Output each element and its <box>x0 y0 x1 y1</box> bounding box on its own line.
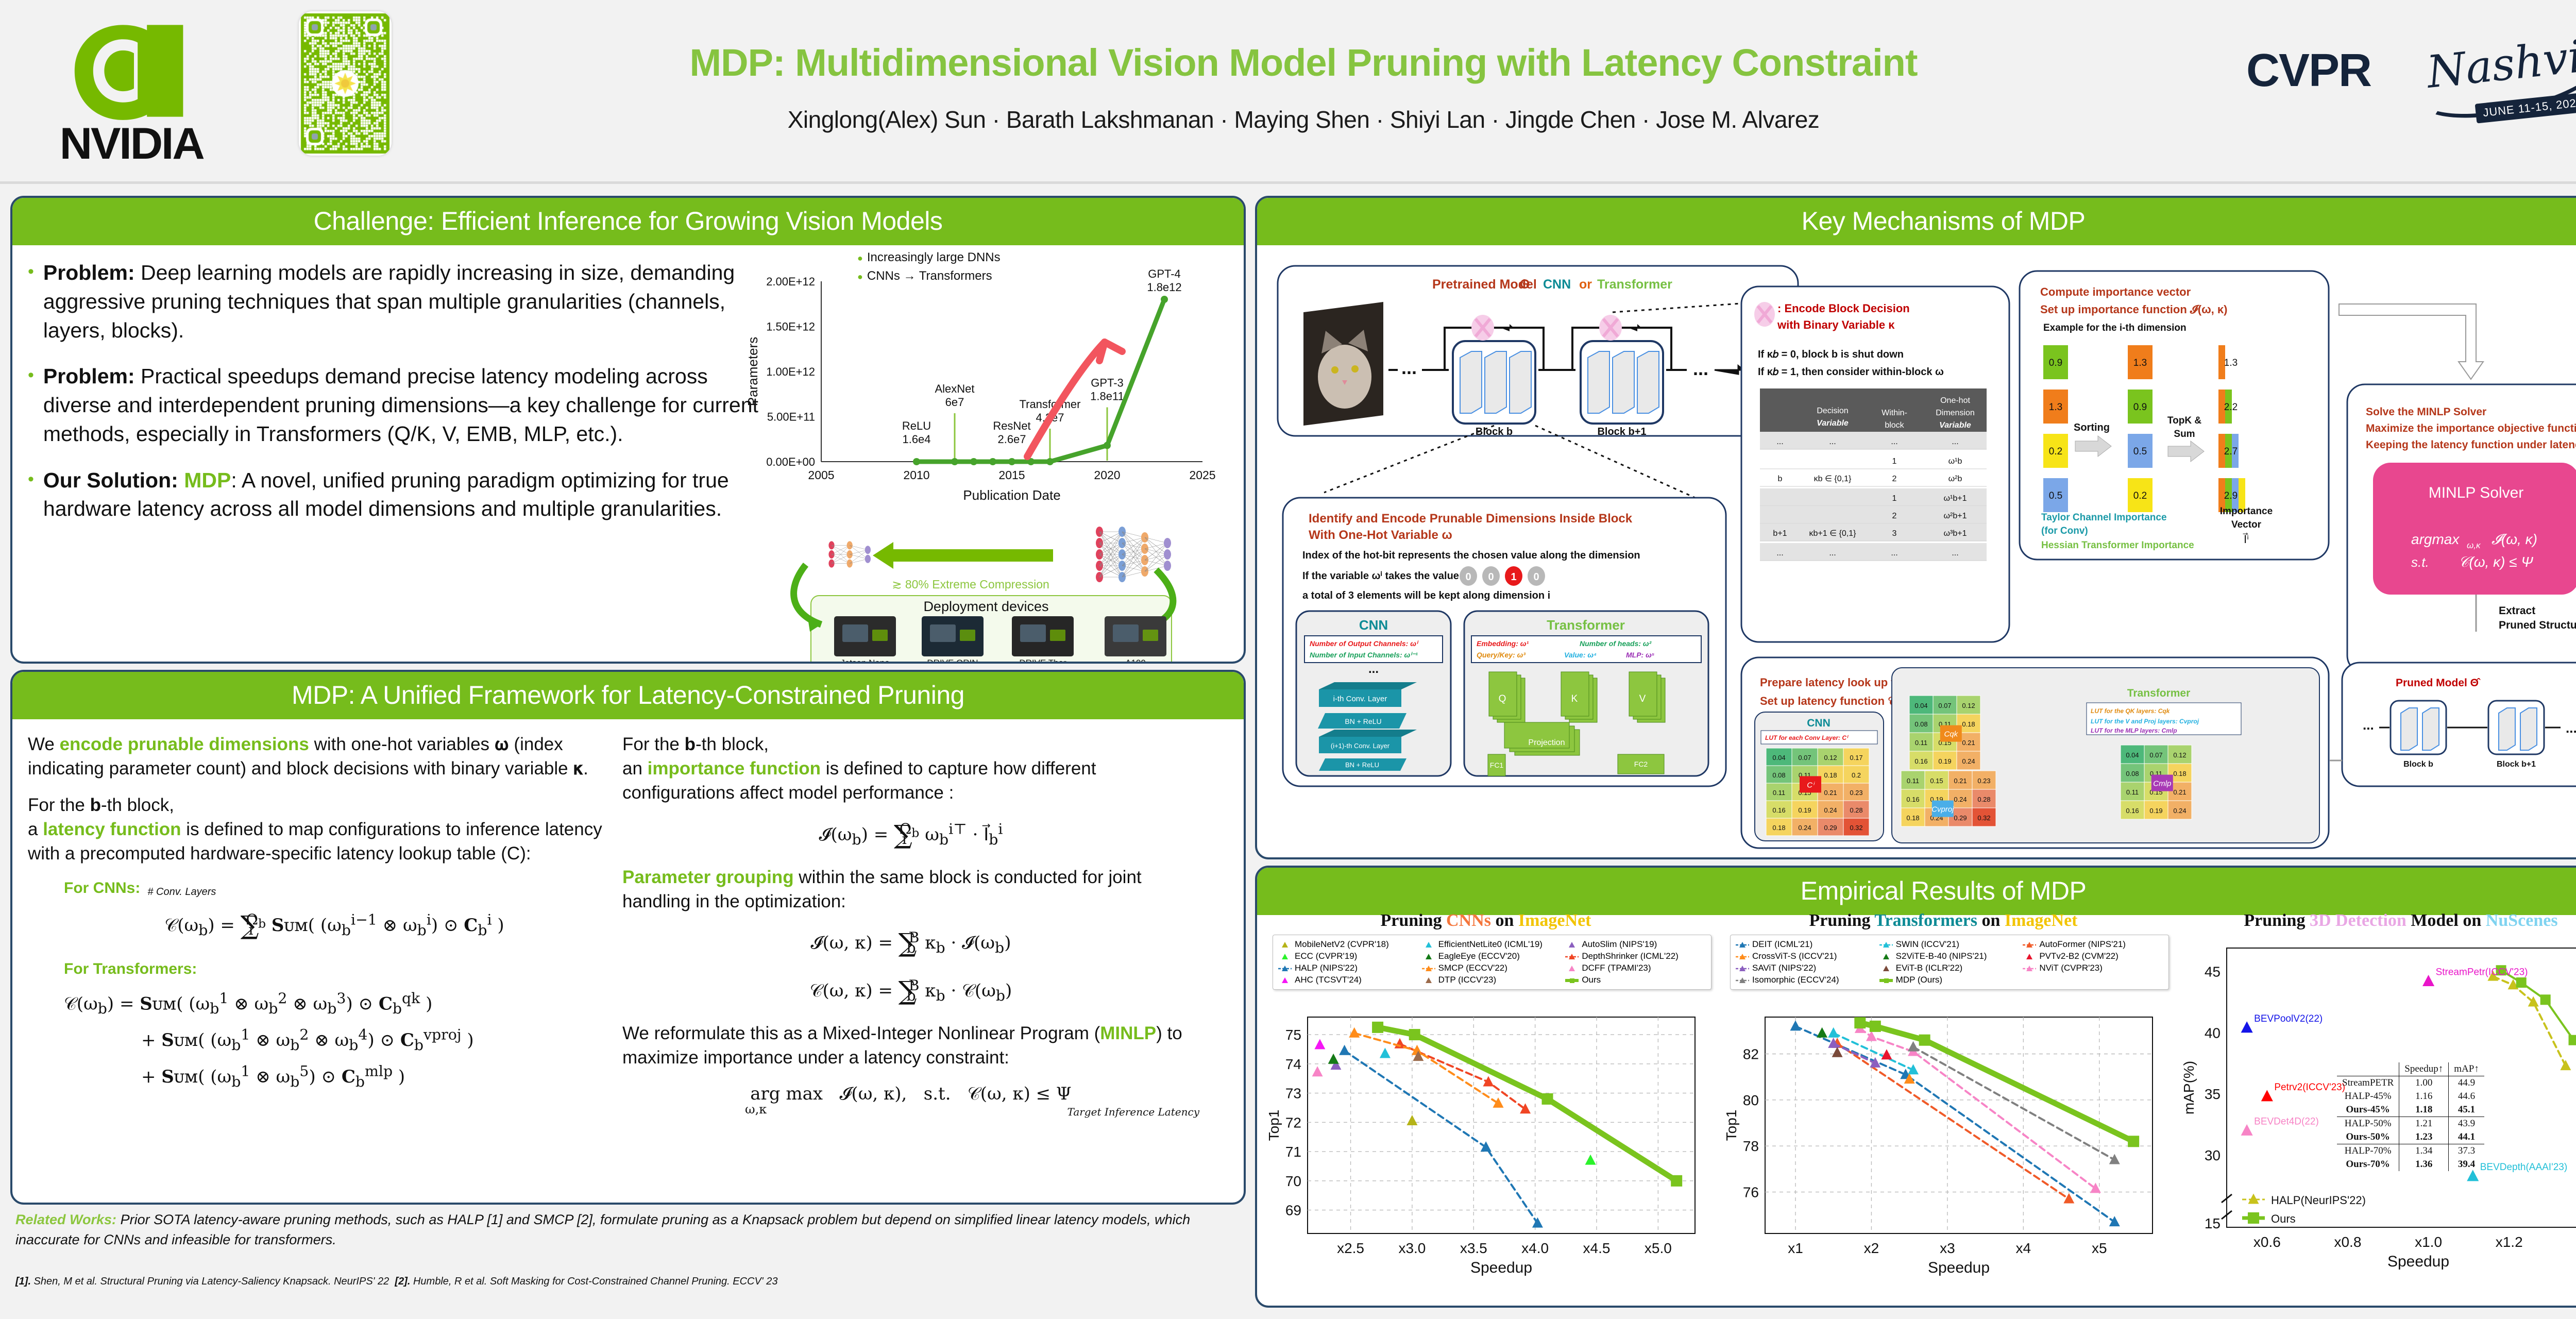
svg-text:x5.0: x5.0 <box>1645 1240 1672 1256</box>
svg-text:Publication Date: Publication Date <box>963 487 1060 503</box>
svg-text:45: 45 <box>2205 964 2221 980</box>
svg-text:0.21: 0.21 <box>1962 739 1975 747</box>
svg-text:0.17: 0.17 <box>1850 754 1862 762</box>
table-cell: StreamPETR <box>2337 1076 2399 1090</box>
svg-text:mAP(%): mAP(%) <box>2182 1061 2197 1114</box>
chart-3ddet-title: Pruning 3D Detection Model on NuScenes <box>2172 911 2576 931</box>
svg-text:CNN: CNN <box>1543 277 1571 292</box>
svg-text:0.11: 0.11 <box>1773 789 1785 797</box>
svg-text:...: ... <box>1693 358 1708 379</box>
svg-text:...: ... <box>1952 437 1958 446</box>
svg-text:2.00E+12: 2.00E+12 <box>766 275 815 288</box>
table-row: StreamPETR1.0044.9 <box>2337 1076 2484 1090</box>
table-header: Speedup↑ <box>2399 1062 2449 1076</box>
svg-text:BEVPoolV2(22): BEVPoolV2(22) <box>2254 1013 2323 1024</box>
table-cell: HALP-45% <box>2337 1090 2399 1103</box>
svg-text:ω¹b: ω¹b <box>1948 457 1962 466</box>
svg-text:x3: x3 <box>1940 1240 1955 1256</box>
importance-group-equation: 𝓘(ω, κ) = ∑bB κb · 𝓘(ωb) <box>622 926 1199 960</box>
svg-text:Importance: Importance <box>2220 506 2273 517</box>
svg-text:DRIVE Thor: DRIVE Thor <box>1019 658 1066 664</box>
panel-framework-body: We encode prunable dimensions with one-h… <box>12 719 1244 1133</box>
svg-text:BN + ReLU: BN + ReLU <box>1345 717 1381 725</box>
svg-text:Query/Key: ω³: Query/Key: ω³ <box>1477 651 1526 659</box>
cvpr-logo: CVPR Nashville JUNE 11-15, 2025 <box>2246 21 2576 149</box>
svg-text:...: ... <box>1891 549 1897 557</box>
table-cell: Ours-45% <box>2337 1103 2399 1117</box>
qr-code[interactable] <box>299 11 392 156</box>
table-cell: 1.36 <box>2399 1158 2449 1171</box>
svg-text:0.19: 0.19 <box>1938 757 1951 765</box>
framework-left-column: We encode prunable dimensions with one-h… <box>28 733 605 1120</box>
svg-text:GPT-3: GPT-3 <box>1091 377 1124 390</box>
title-segment: NuScenes <box>2486 911 2558 930</box>
nvidia-logo: NVIDIA <box>54 15 255 160</box>
svg-text:0.07: 0.07 <box>1938 702 1951 709</box>
svg-text:0.5: 0.5 <box>2133 446 2147 457</box>
svg-text:0.18: 0.18 <box>1962 720 1975 728</box>
panel-framework: MDP: A Unified Framework for Latency-Con… <box>10 670 1246 1205</box>
svg-text:Value: ω⁴: Value: ω⁴ <box>1564 651 1597 659</box>
svg-text:0.12: 0.12 <box>1824 754 1837 762</box>
legend-item: EViT-B (ICLR'22) <box>1879 963 2020 973</box>
svg-text:0.04: 0.04 <box>2126 751 2139 759</box>
svg-text:Deployment devices: Deployment devices <box>923 599 1048 614</box>
svg-text:BN + ReLU: BN + ReLU <box>1345 761 1379 769</box>
legend-item: DepthShrinker (ICML'22) <box>1565 951 1706 961</box>
svg-text:Number of Input Channels: ωⁱ⁻¹: Number of Input Channels: ωⁱ⁻¹ <box>1310 651 1418 659</box>
svg-text:0.18: 0.18 <box>1906 814 1919 822</box>
legend-item: AutoSlim (NIPS'19) <box>1565 939 1706 950</box>
svg-text:Ours: Ours <box>2271 1212 2296 1225</box>
panel-challenge: Challenge: Efficient Inference for Growi… <box>10 196 1246 664</box>
table-row: HALP-70%1.3437.3 <box>2337 1144 2484 1158</box>
parameters-growth-chart: 0.00E+005.00E+111.00E+121.50E+122.00E+12… <box>739 250 1218 513</box>
legend-label: MobileNetV2 (CVPR'18) <box>1295 939 1389 950</box>
svg-text:35: 35 <box>2205 1086 2221 1102</box>
title-segment: 3D Detection <box>2310 911 2406 930</box>
table-cell: 44.9 <box>2449 1076 2484 1090</box>
svg-text:LUT for the QK layers: Cqk: LUT for the QK layers: Cqk <box>2091 707 2171 715</box>
table-cell: 37.3 <box>2449 1144 2484 1158</box>
legend-item: CrossViT-S (ICCV'21) <box>1736 951 1876 961</box>
legend-marker-icon <box>1736 976 1749 984</box>
svg-text:0.29: 0.29 <box>1954 814 1967 822</box>
svg-text:Speedup: Speedup <box>2387 1253 2449 1270</box>
svg-text:BEVDepth(AAAI'23): BEVDepth(AAAI'23) <box>2480 1162 2567 1173</box>
results-charts: Pruning CNNs on ImageNet MobileNetV2 (CV… <box>1257 908 2576 1305</box>
svg-text:Cⁱ: Cⁱ <box>1807 781 1815 789</box>
svg-text:Number of heads: ω²: Number of heads: ω² <box>1580 639 1652 648</box>
legend-marker-icon <box>1736 965 1749 972</box>
svg-text:i-th Conv. Layer: i-th Conv. Layer <box>1333 695 1387 703</box>
svg-text:Variable: Variable <box>1817 419 1849 428</box>
svg-text:Pruned Structure: Pruned Structure <box>2499 619 2576 631</box>
legend-marker-icon <box>1422 953 1435 960</box>
legend-marker-icon <box>1565 941 1579 948</box>
svg-text:0.04: 0.04 <box>1772 754 1785 762</box>
legend-item: SAViT (NIPS'22) <box>1736 963 1876 973</box>
svg-text:0.16: 0.16 <box>1772 806 1785 814</box>
svg-text:0.24: 0.24 <box>1954 796 1967 803</box>
legend-label: SAViT (NIPS'22) <box>1752 963 1816 973</box>
transformer-eq-label: For Transformers: <box>64 960 197 977</box>
legend-marker-icon <box>1565 965 1579 972</box>
list-item: • Problem: Deep learning models are rapi… <box>28 259 759 345</box>
svg-text:Cqk: Cqk <box>1944 730 1958 739</box>
svg-text:Maximize the importance object: Maximize the importance objective functi… <box>2366 422 2576 434</box>
table-cell: Ours-50% <box>2337 1130 2399 1144</box>
svg-text:0.24: 0.24 <box>1798 824 1811 832</box>
svg-text:(for Conv): (for Conv) <box>2041 526 2088 536</box>
svg-text:72: 72 <box>1285 1114 1301 1130</box>
legend-item: MDP (Ours) <box>1879 975 2020 985</box>
svg-text:ω²b+1: ω²b+1 <box>1944 512 1967 520</box>
svg-text:2.9: 2.9 <box>2224 491 2238 501</box>
svg-text:StreamPetr(ICCV'23): StreamPetr(ICCV'23) <box>2436 967 2528 978</box>
svg-text:...: ... <box>1776 549 1783 557</box>
svg-text:CNN: CNN <box>1359 617 1388 633</box>
svg-text:GPT-4: GPT-4 <box>1148 267 1181 280</box>
chart-cnn-plot: 69707172737475x2.5x3.0x3.5x4.0x4.5x5.0Sp… <box>1267 1011 1705 1279</box>
svg-text:6e7: 6e7 <box>945 396 964 409</box>
target-latency-note: Target Inference Latency <box>1067 1105 1199 1119</box>
legend-item: EagleEye (ECCV'20) <box>1422 951 1563 961</box>
framework-p2: For the b-th block, a latency function i… <box>28 793 605 866</box>
poster-root: NVIDIA MDP: Multidimensional Vision Mode… <box>0 0 2576 1319</box>
svg-text:0.08: 0.08 <box>1914 720 1927 728</box>
bullet-dot-icon: • <box>28 362 34 448</box>
svg-text:0.32: 0.32 <box>1977 814 1990 822</box>
legend-label: EfficientNetLite0 (ICML'19) <box>1438 939 1543 950</box>
svg-text:Block b: Block b <box>2403 760 2433 769</box>
svg-text:1.50E+12: 1.50E+12 <box>766 320 815 333</box>
svg-text:Transformer: Transformer <box>1020 398 1081 411</box>
svg-text:Sum: Sum <box>2174 429 2195 439</box>
legend-label: Isomorphic (ECCV'24) <box>1752 975 1839 985</box>
cvpr-text: CVPR <box>2246 44 2371 97</box>
svg-text:0.24: 0.24 <box>2173 807 2186 815</box>
svg-text:2015: 2015 <box>998 468 1025 482</box>
legend-marker-icon <box>1422 965 1435 972</box>
framework-r3: We reformulate this as a Mixed-Integer N… <box>622 1022 1199 1070</box>
svg-text:Hessian Transformer Importance: Hessian Transformer Importance <box>2041 540 2194 551</box>
svg-text:argmax: argmax <box>2411 531 2460 547</box>
svg-text:2025: 2025 <box>1189 468 1215 482</box>
bullet-text: Problem: Practical speedups demand preci… <box>43 362 759 448</box>
legend-label: S2ViTE-B-40 (NIPS'21) <box>1896 951 1987 961</box>
svg-text:block: block <box>1885 421 1904 430</box>
svg-text:ReLU: ReLU <box>902 419 931 432</box>
legend-label: SWIN (ICCV'21) <box>1896 939 1959 950</box>
svg-text:1.3: 1.3 <box>2049 402 2062 413</box>
svg-text:82: 82 <box>1743 1046 1759 1062</box>
svg-text:80: 80 <box>1743 1092 1759 1108</box>
svg-text:0.07: 0.07 <box>2149 751 2162 759</box>
svg-text:x4.0: x4.0 <box>1521 1240 1549 1256</box>
svg-text:x3.0: x3.0 <box>1398 1240 1426 1256</box>
svg-text:K: K <box>1571 694 1578 704</box>
svg-text:0.00E+00: 0.00E+00 <box>766 455 815 468</box>
svg-text:If the variable ωⁱ takes the v: If the variable ωⁱ takes the value: <box>1302 570 1463 582</box>
title-segment: ImageNet <box>2005 911 2078 930</box>
svg-text:0.24: 0.24 <box>1824 806 1837 814</box>
svg-text:0.21: 0.21 <box>2173 788 2186 796</box>
svg-text:x0.8: x0.8 <box>2334 1234 2361 1250</box>
legend-marker-icon <box>1879 965 1893 972</box>
svg-text:Speedup: Speedup <box>1470 1259 1532 1276</box>
svg-text:0.24: 0.24 <box>1962 757 1975 765</box>
title-segment: Pruning <box>2244 911 2310 930</box>
bullet-text: Our Solution: MDP: A novel, unified prun… <box>43 466 759 524</box>
table-cell: 44.6 <box>2449 1090 2484 1103</box>
svg-text:Transformer: Transformer <box>1597 277 1672 292</box>
chart-cnn-legend: MobileNetV2 (CVPR'18)EfficientNetLite0 (… <box>1273 935 1711 990</box>
svg-text:1.3: 1.3 <box>2133 358 2147 368</box>
legend-item: SMCP (ECCV'22) <box>1422 963 1563 973</box>
svg-text:Block b+1: Block b+1 <box>1597 426 1646 437</box>
legend-label: DCFF (TPAMI'23) <box>1582 963 1651 973</box>
svg-text:2: 2 <box>1892 512 1897 520</box>
svg-text:1.8e12: 1.8e12 <box>1147 281 1181 294</box>
legend-marker-icon <box>1422 976 1435 984</box>
svg-text:I⃗ⁱ: I⃗ⁱ <box>2243 533 2249 546</box>
svg-text:...: ... <box>1829 437 1836 446</box>
svg-text:0: 0 <box>1465 571 1471 583</box>
svg-text:...: ... <box>1776 437 1783 446</box>
svg-text:73: 73 <box>1285 1086 1301 1102</box>
panel-challenge-body: • Problem: Deep learning models are rapi… <box>12 245 1244 554</box>
svg-text:5.00E+11: 5.00E+11 <box>767 411 815 424</box>
chart-transformer-title: Pruning Transformers on ImageNet <box>1715 911 2172 931</box>
legend-item: AutoFormer (NIPS'21) <box>2023 939 2163 950</box>
legend-label: ECC (CVPR'19) <box>1295 951 1357 961</box>
svg-text:75: 75 <box>1285 1027 1301 1043</box>
deployment-diagram: ≳ 80% Extreme CompressionDeployment devi… <box>744 513 1223 664</box>
svg-text:𝒞(ω, κ) ≤ Ψ: 𝒞(ω, κ) ≤ Ψ <box>2459 554 2533 570</box>
svg-text:Vector: Vector <box>2231 519 2262 530</box>
title-segment: on <box>1977 911 2005 930</box>
svg-text:CNN: CNN <box>1807 717 1831 729</box>
svg-text:Decision: Decision <box>1817 407 1848 415</box>
svg-text:0.16: 0.16 <box>1914 757 1927 765</box>
svg-text:ω,κ: ω,κ <box>2467 540 2481 550</box>
svg-text:0.23: 0.23 <box>1850 789 1862 797</box>
panel-results: Empirical Results of MDP Pruning CNNs on… <box>1255 866 2576 1308</box>
svg-text:ResNet: ResNet <box>993 419 1030 432</box>
legend-marker-icon <box>2023 953 2036 960</box>
svg-text:b+1: b+1 <box>1773 529 1787 538</box>
svg-text:2.7: 2.7 <box>2224 446 2238 457</box>
svg-text:Dimension: Dimension <box>1936 409 1975 417</box>
svg-text:3: 3 <box>1892 529 1897 538</box>
svg-text:30: 30 <box>2205 1147 2221 1163</box>
legend-label: DEIT (ICML'21) <box>1752 939 1812 950</box>
svg-text:x1.0: x1.0 <box>2415 1234 2442 1250</box>
legend-item: NViT (CVPR'23) <box>2023 963 2163 973</box>
table-cell: 45.1 <box>2449 1103 2484 1117</box>
legend-marker-icon <box>1278 941 1292 948</box>
svg-text:One-hot: One-hot <box>1940 396 1970 405</box>
legend-item: AHC (TCSVT'24) <box>1278 975 1419 985</box>
chart-transformer-plot: 76788082x1x2x3x4x5SpeedupTop1 <box>1725 1011 2163 1279</box>
panel-challenge-title: Challenge: Efficient Inference for Growi… <box>12 198 1244 245</box>
legend-marker-icon <box>1879 941 1893 948</box>
svg-text:If κ𝑏 = 1, then consider with: If κ𝑏 = 1, then consider within-block ω <box>1758 366 1944 378</box>
bullet-text: Problem: Deep learning models are rapidl… <box>43 259 759 345</box>
svg-text:Variable: Variable <box>1939 421 1971 430</box>
svg-text:DRIVE ORIN: DRIVE ORIN <box>927 658 978 664</box>
svg-text:κb+1 ∈ {0,1}: κb+1 ∈ {0,1} <box>1809 529 1857 538</box>
svg-text:0.07: 0.07 <box>1798 754 1811 762</box>
latency-group-equation: 𝒞(ω, κ) = ∑bB κb · 𝒞(ωb) <box>622 974 1199 1008</box>
legend-label: DTP (ICCV'23) <box>1438 975 1497 985</box>
svg-text:0.23: 0.23 <box>1977 777 1990 785</box>
svg-text:κb ∈ {0,1}: κb ∈ {0,1} <box>1814 475 1852 483</box>
svg-text:Projection: Projection <box>1528 738 1565 747</box>
page-title: MDP: Multidimensional Vision Model Pruni… <box>505 44 2102 82</box>
title-segment: Pruning <box>1381 911 1447 930</box>
svg-text:0.29: 0.29 <box>1824 824 1837 832</box>
legend-label: EViT-B (ICLR'22) <box>1896 963 1963 973</box>
table-cell: 1.16 <box>2399 1090 2449 1103</box>
svg-text:x2.5: x2.5 <box>1337 1240 1364 1256</box>
svg-text:BEVDet4D(22): BEVDet4D(22) <box>2254 1116 2319 1127</box>
svg-text:Transformer: Transformer <box>2127 687 2191 699</box>
svg-text:Sorting: Sorting <box>2074 422 2110 433</box>
table-row: HALP-50%1.2143.9 <box>2337 1117 2484 1131</box>
table-cell: 39.4 <box>2449 1158 2484 1171</box>
legend-item: DCFF (TPAMI'23) <box>1565 963 1706 973</box>
bullet-dot-icon: • <box>28 466 34 524</box>
legend-label: CrossViT-S (ICCV'21) <box>1752 951 1837 961</box>
svg-text:0.28: 0.28 <box>1850 806 1862 814</box>
svg-text:x5: x5 <box>2092 1240 2107 1256</box>
svg-text:2005: 2005 <box>808 468 834 482</box>
panel-mechanisms-body: Pretrained ModelΘCNNorTransformer...Bloc… <box>1257 245 2576 859</box>
legend-item: PVTv2-B2 (CVM'22) <box>2023 951 2163 961</box>
legend-marker-icon <box>1565 976 1579 984</box>
minlp-equation: arg max ω,κ 𝓘(ω, κ), s.t. 𝒞(ω, κ) ≤ Ψ Ta… <box>622 1083 1199 1106</box>
legend-item: DTP (ICCV'23) <box>1422 975 1563 985</box>
svg-text:...: ... <box>1891 437 1897 446</box>
svg-text:x2: x2 <box>1864 1240 1879 1256</box>
svg-text:0.08: 0.08 <box>2126 770 2139 777</box>
svg-text:≳ 80% Extreme Compression: ≳ 80% Extreme Compression <box>892 578 1049 591</box>
svg-text:Block b: Block b <box>1476 426 1513 437</box>
legend-label: SMCP (ECCV'22) <box>1438 963 1507 973</box>
svg-text:V: V <box>1639 694 1646 704</box>
svg-text:Compute importance vector: Compute importance vector <box>2040 285 2191 298</box>
panel-mechanisms: Key Mechanisms of MDP Pretrained ModelΘC… <box>1255 196 2576 859</box>
legend-label: HALP (NIPS'22) <box>1295 963 1358 973</box>
legend-marker-icon <box>1278 965 1292 972</box>
svg-text:0.11: 0.11 <box>2126 788 2139 796</box>
mechanisms-diagram: Pretrained ModelΘCNNorTransformer...Bloc… <box>1262 250 2576 858</box>
title-segment: Transformers <box>1874 911 1977 930</box>
svg-text:Set up importance function 𝓘(: Set up importance function 𝓘(ω, κ) <box>2040 303 2228 316</box>
svg-text:...: ... <box>1401 357 1417 378</box>
svg-text:ω¹b+1: ω¹b+1 <box>1944 494 1967 503</box>
legend-marker-icon <box>1278 953 1292 960</box>
svg-text:Cvproj: Cvproj <box>1931 805 1954 814</box>
svg-text:0.11: 0.11 <box>1915 739 1927 747</box>
svg-text:0.21: 0.21 <box>1824 789 1837 797</box>
table-cell: 1.23 <box>2399 1130 2449 1144</box>
transformer-latency-equation: 𝒞(ωb) = Sᴜᴍ( (ωb1 ⊗ ωb2 ⊗ ωb3) ⊙ Cbqk ) … <box>64 986 605 1095</box>
table-cell: 1.00 <box>2399 1076 2449 1090</box>
svg-text:MINLP Solver: MINLP Solver <box>2429 484 2524 501</box>
svg-text:0.12: 0.12 <box>2173 751 2186 759</box>
table-cell: HALP-70% <box>2337 1144 2399 1158</box>
svg-text:LUT for the MLP layers: Cmlp: LUT for the MLP layers: Cmlp <box>2091 727 2177 734</box>
svg-text:1: 1 <box>1892 494 1897 503</box>
legend-marker-icon <box>2023 965 2036 972</box>
svg-text:Top1: Top1 <box>1725 1110 1739 1141</box>
legend-marker-icon <box>1422 941 1435 948</box>
svg-text:Identify and Encode Prunable D: Identify and Encode Prunable Dimensions … <box>1309 512 1633 526</box>
svg-text:LUT for the V and Proj layers:: LUT for the V and Proj layers: Cvproj <box>2091 718 2199 725</box>
svg-text:2.2: 2.2 <box>2224 402 2238 413</box>
bullet-dot-icon: • <box>28 259 34 345</box>
chart-3ddet: Pruning 3D Detection Model on NuScenes 1… <box>2172 908 2576 1305</box>
importance-equation: 𝓘(ωb) = ∑iΩb ωbi⊤ · I⃗bi <box>622 818 1199 852</box>
panel-mechanisms-title: Key Mechanisms of MDP <box>1257 198 2576 245</box>
header-divider <box>0 181 2576 184</box>
list-item: • Our Solution: MDP: A novel, unified pr… <box>28 466 759 524</box>
title-segment: on <box>1491 911 1518 930</box>
legend-item: EfficientNetLite0 (ICML'19) <box>1422 939 1563 950</box>
legend-label: EagleEye (ECCV'20) <box>1438 951 1520 961</box>
title-segment: ImageNet <box>1518 911 1591 930</box>
svg-text:FC2: FC2 <box>1634 760 1648 768</box>
svg-text:0.04: 0.04 <box>1914 702 1927 709</box>
svg-text:0.5: 0.5 <box>2049 491 2062 501</box>
legend-item: SWIN (ICCV'21) <box>1879 939 2020 950</box>
svg-text:0.19: 0.19 <box>1798 806 1811 814</box>
svg-text:a total of 3 elements will be: a total of 3 elements will be kept along… <box>1302 590 1550 601</box>
svg-text:x1.2: x1.2 <box>2496 1234 2523 1250</box>
conv-layers-note: # Conv. Layers <box>147 885 216 899</box>
svg-text:71: 71 <box>1285 1144 1301 1160</box>
title-segment: Pruning <box>1809 911 1874 930</box>
svg-text:Pruned Model Θ̂: Pruned Model Θ̂ <box>2396 677 2481 689</box>
chart-transformer-legend: DEIT (ICML'21)SWIN (ICCV'21)AutoFormer (… <box>1730 935 2169 990</box>
svg-text:Q: Q <box>1499 694 1506 704</box>
svg-text:78: 78 <box>1743 1138 1759 1154</box>
title-segment: CNNs <box>1446 911 1491 930</box>
svg-text:2.6e7: 2.6e7 <box>997 433 1026 446</box>
legend-marker-icon <box>2023 941 2036 948</box>
nvidia-eye-icon <box>64 21 204 121</box>
svg-text:0.15: 0.15 <box>1930 777 1943 785</box>
svg-text:0.18: 0.18 <box>1772 824 1785 832</box>
svg-text:70: 70 <box>1285 1173 1301 1189</box>
cnn-eq-label: For CNNs: <box>64 878 140 899</box>
references: [1]. Shen, M et al. Structural Pruning v… <box>15 1276 1252 1288</box>
svg-text:0.18: 0.18 <box>1824 771 1837 779</box>
svg-text:x4.5: x4.5 <box>1583 1240 1611 1256</box>
table-row: Ours-45%1.1845.1 <box>2337 1103 2484 1117</box>
svg-text:FC1: FC1 <box>1490 761 1504 769</box>
legend-item: Ours <box>1565 975 1706 985</box>
list-item: • Problem: Practical speedups demand pre… <box>28 362 759 448</box>
svg-text:Embedding: ω¹: Embedding: ω¹ <box>1477 639 1529 648</box>
svg-text:Example for the i-th dimension: Example for the i-th dimension <box>2043 323 2187 333</box>
framework-p1: We encode prunable dimensions with one-h… <box>28 733 605 781</box>
legend-marker-icon <box>1565 953 1579 960</box>
challenge-bullet-list: • Problem: Deep learning models are rapi… <box>28 259 759 523</box>
